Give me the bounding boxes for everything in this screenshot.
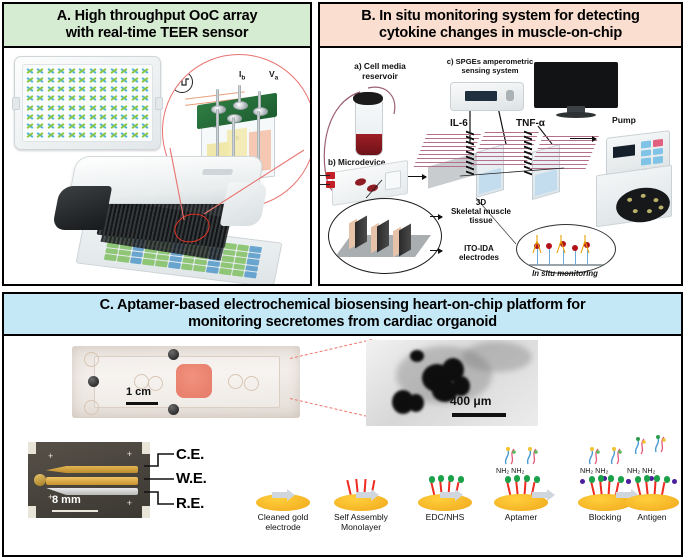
aptamer-structure-icon (502, 446, 520, 466)
instrument-illustration (50, 156, 274, 280)
heart-on-chip-photo: 1 cm (72, 346, 300, 418)
zoom-dash-bottom (290, 398, 372, 418)
instrument-right-module (220, 182, 269, 226)
monitor-display (534, 62, 618, 118)
label-nh2: NH₂ NH₂ (580, 466, 608, 475)
plate-tab-left (12, 97, 20, 110)
zoom-dash-top (290, 339, 372, 359)
label-nh2: NH₂ NH₂ (627, 466, 655, 475)
panel-c: C. Aptamer-based electrochemical biosens… (2, 292, 683, 557)
panel-b-body: a) Cell media reservoir b) Microdevice c… (320, 48, 681, 284)
label-scale-8mm: 8 mm (52, 494, 81, 506)
well-grid (25, 67, 150, 139)
well (25, 67, 35, 75)
spge-amperometric-device (450, 82, 524, 111)
label-nh2: NH₂ NH₂ (496, 466, 524, 475)
instrument-front-module (52, 186, 113, 230)
workflow-arrow-3 (440, 492, 456, 498)
aptamer-structure-icon (608, 446, 626, 466)
aptamer-structure-icon (586, 446, 604, 466)
antigen-molecule-icon (652, 434, 670, 454)
comb-teeth-1 (466, 131, 474, 176)
antigen-molecule-icon (632, 436, 650, 456)
label-electrode-va: Va (269, 69, 278, 82)
aptamer-structure-icon (524, 446, 542, 466)
label-cell-media-reservoir: a) Cell media reservoir (334, 62, 426, 81)
workflow-arrow-4 (532, 492, 548, 498)
cell-media-reservoir (353, 92, 383, 154)
workflow-arrow-1 (272, 492, 288, 498)
cardiac-organoid (176, 364, 212, 398)
panel-a-title: A. High throughput OoC array with real-t… (4, 4, 310, 48)
square-wave-icon (171, 71, 193, 93)
panel-a-body: Ib Va Vb Ia (4, 48, 310, 284)
panel-b-title: B. In situ monitoring system for detecti… (320, 4, 681, 48)
label-scale-400um: 400 μm (450, 394, 491, 408)
label-pump: Pump (612, 116, 636, 126)
figure-root: A. High throughput OoC array with real-t… (0, 0, 685, 559)
plate-tab-right (155, 97, 163, 110)
scalebar-8mm (52, 510, 98, 512)
label-ito-ida-electrodes: ITO-IDA electrodes (446, 244, 512, 262)
label-3d-skeletal-muscle: 3D Skeletal muscle tissue (446, 198, 516, 226)
screen-printed-electrode-photo: + + + + 8 mm (28, 442, 150, 518)
label-electrode-ib: Ib (239, 69, 245, 82)
flow-arrow-1 (408, 176, 426, 177)
scalebar-400um (452, 413, 506, 417)
label-in-situ-monitoring: In situ monitoring (516, 270, 614, 279)
electrode-pointer-arrow (430, 250, 442, 251)
muscle-pointer-arrow (430, 216, 442, 217)
label-tnf-alpha: TNF-α (516, 118, 545, 130)
workflow-caption: Antigen (620, 512, 681, 522)
label-counter-electrode: C.E. (176, 446, 204, 463)
flow-arrow-2 (570, 138, 596, 139)
workflow-arrow-2 (356, 492, 372, 498)
wellplate-illustration (14, 56, 161, 150)
panel-b: B. In situ monitoring system for detecti… (318, 2, 683, 286)
panel-a: A. High throughput OoC array with real-t… (2, 2, 312, 286)
label-spge-sensing-system: c) SPGEs amperometric sensing system (442, 58, 538, 75)
panel-c-body: 1 cm 400 μm (4, 336, 681, 555)
label-working-electrode: W.E. (176, 470, 206, 487)
label-scale-1cm: 1 cm (126, 386, 151, 398)
panel-c-title: C. Aptamer-based electrochemical biosens… (4, 294, 681, 336)
label-il6: IL-6 (450, 118, 468, 130)
scalebar-1cm (126, 402, 158, 405)
ito-ida-callout (328, 198, 442, 274)
label-reference-electrode: R.E. (176, 495, 204, 512)
in-situ-monitoring-callout (516, 224, 616, 274)
organoid-microscopy-image: 400 μm (366, 340, 538, 426)
